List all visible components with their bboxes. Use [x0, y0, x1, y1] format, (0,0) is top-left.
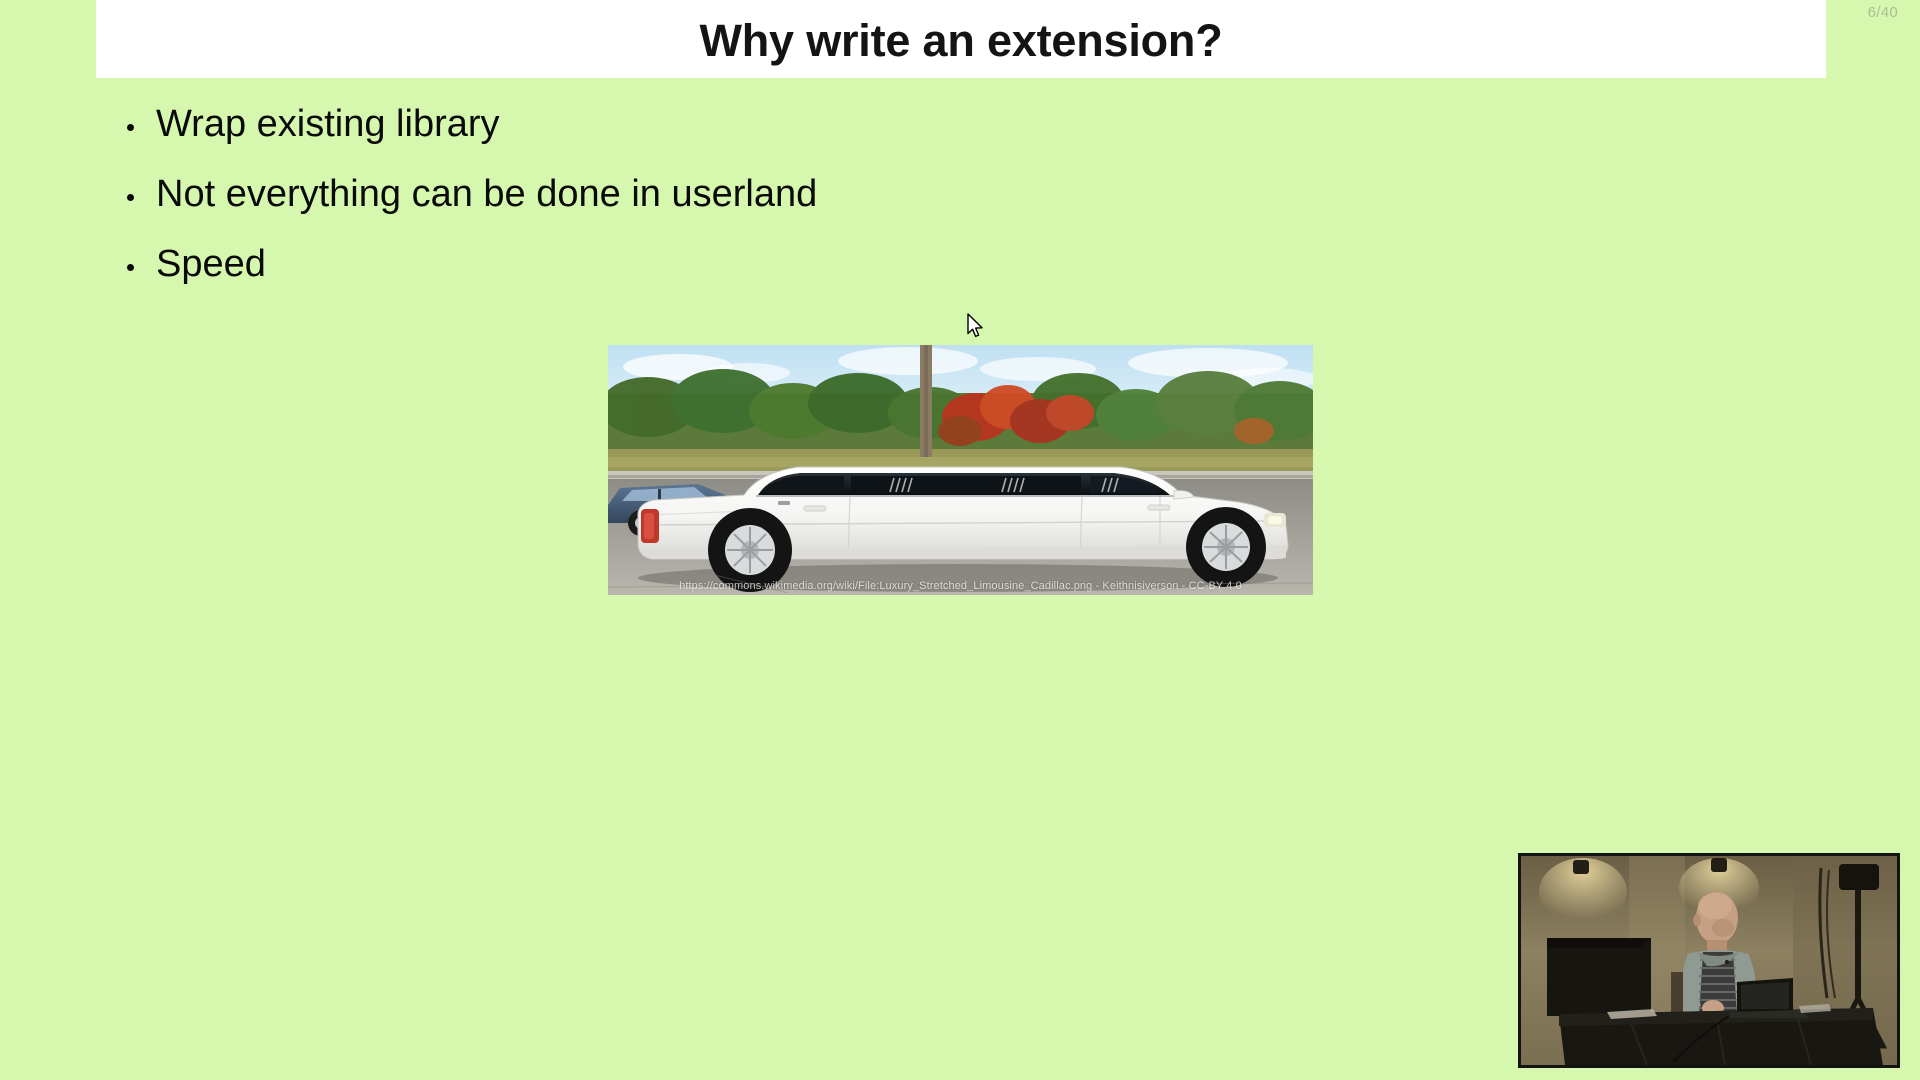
list-item-label: Not everything can be done in userland: [156, 173, 817, 215]
page-counter: 6/40: [1868, 4, 1898, 21]
list-item: Not everything can be done in userland: [118, 173, 1518, 215]
limousine-photo: [608, 345, 1313, 595]
bullet-dot-icon: [127, 264, 134, 271]
list-item: Wrap existing library: [118, 103, 1518, 145]
mouse-cursor: [966, 313, 986, 341]
image-attribution-caption: https://commons.wikimedia.org/wiki/File:…: [608, 580, 1313, 592]
bullet-dot-icon: [127, 124, 134, 131]
list-item-label: Wrap existing library: [156, 103, 500, 145]
bullet-dot-icon: [127, 194, 134, 201]
speaker-video-thumbnail[interactable]: [1518, 853, 1900, 1068]
list-item: Speed: [118, 243, 1518, 285]
page-title: Why write an extension?: [700, 18, 1223, 63]
slide-title-bar: Why write an extension?: [96, 0, 1826, 78]
list-item-label: Speed: [156, 243, 266, 285]
slide-image-figure: https://commons.wikimedia.org/wiki/File:…: [608, 345, 1313, 595]
presentation-slide: Why write an extension? 6/40 Wrap existi…: [0, 0, 1920, 1080]
bullet-list: Wrap existing library Not everything can…: [118, 103, 1518, 313]
limousine-photo-graphic: [608, 345, 1313, 595]
speaker-video-graphic: [1521, 856, 1897, 1065]
